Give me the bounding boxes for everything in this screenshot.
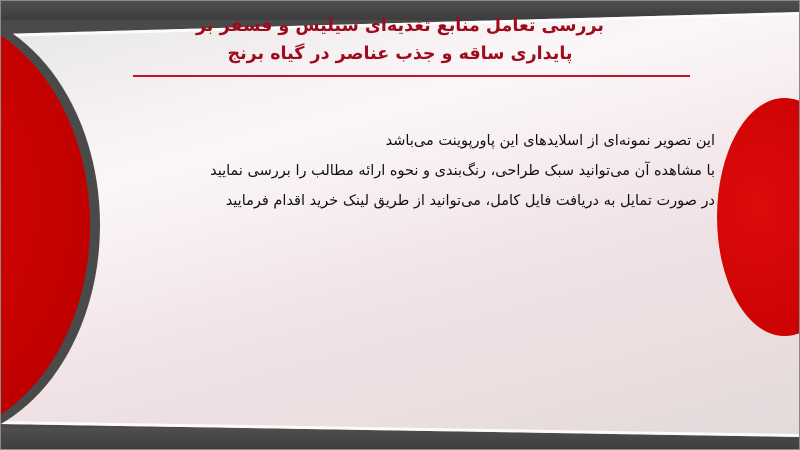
body-text-line-1: این تصویر نمونه‌ای از اسلایدهای این پاور…: [75, 126, 715, 156]
slide-body-text: این تصویر نمونه‌ای از اسلایدهای این پاور…: [75, 126, 715, 216]
title-underline-rule: [133, 75, 690, 77]
slide-title-line-2: پایداری ساقه و جذب عناصر در گیاه برنج: [110, 40, 690, 68]
body-text-line-3: در صورت تمایل به دریافت فایل کامل، می‌تو…: [75, 186, 715, 216]
slide-title: بررسی تعامل منابع تغذیه‌ای سیلیس و فسفر …: [110, 12, 690, 68]
presentation-slide: بررسی تعامل منابع تغذیه‌ای سیلیس و فسفر …: [0, 0, 800, 450]
slide-title-line-1: بررسی تعامل منابع تغذیه‌ای سیلیس و فسفر …: [110, 12, 690, 40]
body-text-line-2: با مشاهده آن می‌توانید سبک طراحی، رنگ‌بن…: [75, 156, 715, 186]
